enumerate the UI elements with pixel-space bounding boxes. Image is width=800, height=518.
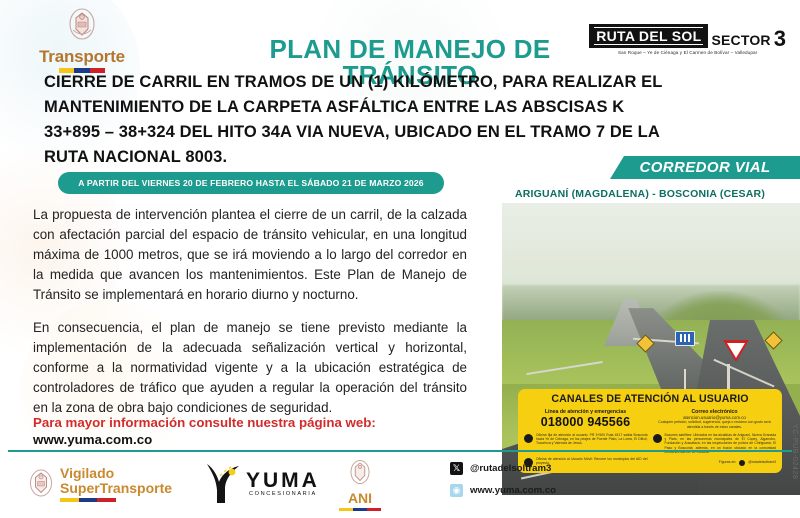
headline-block: CIERRE DE CARRIL EN TRAMOS DE UN (1) KIL… xyxy=(44,70,760,170)
corridor-badge: CORREDOR VIAL xyxy=(610,156,800,179)
channels-email-block: Correo electrónico atencion.usuario@yuma… xyxy=(653,409,776,429)
ministry-of-transport-logo: Transporte xyxy=(22,8,142,73)
supertransporte-line-2: SuperTransporte xyxy=(60,481,172,496)
yuma-subtitle: CONCESIONARIA xyxy=(246,491,320,497)
social-row-x[interactable]: 𝕏 @rutadelsoltram3 xyxy=(450,462,556,475)
social-row-web[interactable]: ◉ www.yuma.com.co xyxy=(450,484,556,497)
photo-yield-sign xyxy=(723,340,749,362)
colombia-flag-bar xyxy=(339,508,381,511)
social-handle-x[interactable]: @rutadelsoltram3 xyxy=(470,463,551,474)
yuma-road-mark-icon xyxy=(200,460,244,506)
mailbox-icon xyxy=(653,434,662,443)
colombia-flag-bar xyxy=(60,498,116,502)
social-website-url[interactable]: www.yuma.com.co xyxy=(470,485,556,496)
headline-line-3: 33+895 – 38+324 DEL HITO 34A VIA NUEVA, … xyxy=(44,120,760,145)
office-icon xyxy=(524,434,533,443)
channels-phone-block: Línea de atención y emergencias 018000 9… xyxy=(524,409,647,429)
footer-divider xyxy=(8,450,792,452)
rds-sector-number: 3 xyxy=(771,29,786,48)
supertransporte-line-1: Vigilado xyxy=(60,466,172,481)
ministry-label: Transporte xyxy=(22,48,142,65)
channels-email-note: Cualquier petición, solicitud, sugerenci… xyxy=(653,420,776,429)
colombia-coat-of-arms-icon xyxy=(67,8,97,42)
globe-icon[interactable]: ◉ xyxy=(450,484,463,497)
ani-label: ANI xyxy=(330,491,390,506)
footer-social-links: 𝕏 @rutadelsoltram3 ◉ www.yuma.com.co xyxy=(450,462,556,506)
x-twitter-icon[interactable]: 𝕏 xyxy=(450,462,463,475)
website-callout: Para mayor información consulte nuestra … xyxy=(33,414,473,448)
colombia-coat-of-arms-icon xyxy=(28,469,54,499)
headline-line-1: CIERRE DE CARRIL EN TRAMOS DE UN (1) KIL… xyxy=(44,70,760,95)
ani-logo: ANI xyxy=(330,460,390,511)
body-text: La propuesta de intervención plantea el … xyxy=(33,205,467,431)
traffic-management-plan-poster: Transporte RUTA DEL SOL SECTOR 3 San Roq… xyxy=(0,0,800,518)
yuma-wordmark: YUMA xyxy=(246,470,320,491)
corridor-route-label: ARIGUANÍ (MAGDALENA) - BOSCONIA (CESAR) xyxy=(490,188,790,200)
supertransporte-logo: Vigilado SuperTransporte xyxy=(28,466,172,502)
yuma-concesionaria-logo: YUMA CONCESIONARIA xyxy=(200,460,320,506)
channels-figure-label: Figuras en: xyxy=(719,460,737,464)
channels-card-title: CANALES DE ATENCIÓN AL USUARIO xyxy=(524,393,776,406)
user-service-channels-card: CANALES DE ATENCIÓN AL USUARIO Línea de … xyxy=(518,389,782,473)
channels-figure-handle: @rutadelsoltram3 xyxy=(748,460,776,464)
colombia-coat-of-arms-icon xyxy=(349,460,371,486)
channels-phone-number[interactable]: 018000 945566 xyxy=(524,415,647,429)
date-range-banner: A PARTIR DEL VIERNES 20 DE FEBRERO HASTA… xyxy=(58,172,444,194)
website-callout-prefix: Para mayor información consulte nuestra … xyxy=(33,415,376,430)
website-callout-url[interactable]: www.yuma.com.co xyxy=(33,432,152,447)
photo-blue-road-sign xyxy=(675,331,695,346)
headline-line-2: MANTENIMIENTO DE LA CARPETA ASFÁLTICA EN… xyxy=(44,95,760,120)
rds-sector-word: SECTOR xyxy=(708,33,770,48)
document-code: YC-PUB-02428 xyxy=(791,424,798,479)
x-twitter-icon xyxy=(739,460,745,466)
body-paragraph-2: En consecuencia, el plan de manejo se ti… xyxy=(33,318,467,418)
body-paragraph-1: La propuesta de intervención plantea el … xyxy=(33,205,467,305)
